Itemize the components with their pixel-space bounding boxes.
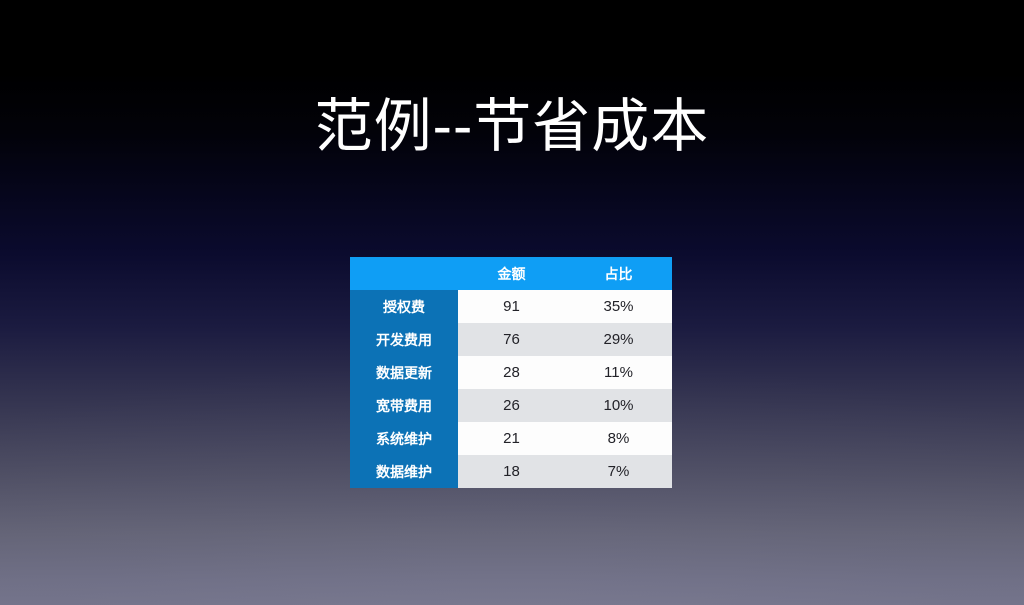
row-label: 数据更新 (350, 356, 458, 389)
row-label: 数据维护 (350, 455, 458, 488)
row-percent: 8% (565, 422, 672, 455)
table-row: 数据更新 28 11% (350, 356, 672, 389)
row-percent: 11% (565, 356, 672, 389)
row-amount: 76 (458, 323, 565, 356)
column-header-percent: 占比 (565, 257, 672, 290)
row-label: 宽带费用 (350, 389, 458, 422)
column-header-label (350, 257, 458, 290)
table-header: 金额 占比 (350, 257, 672, 290)
page-title: 范例--节省成本 (0, 92, 1024, 162)
column-header-amount: 金额 (458, 257, 565, 290)
row-label: 系统维护 (350, 422, 458, 455)
table-row: 授权费 91 35% (350, 290, 672, 323)
table-row: 开发费用 76 29% (350, 323, 672, 356)
row-percent: 10% (565, 389, 672, 422)
table-row: 宽带费用 26 10% (350, 389, 672, 422)
row-amount: 26 (458, 389, 565, 422)
table-row: 系统维护 21 8% (350, 422, 672, 455)
row-percent: 29% (565, 323, 672, 356)
presentation-slide: 范例--节省成本 金额 占比 授权费 91 35% (0, 0, 1024, 605)
cost-breakdown-table: 金额 占比 授权费 91 35% 开发费用 76 29% 数据更新 28 (350, 257, 672, 488)
row-percent: 35% (565, 290, 672, 323)
row-amount: 21 (458, 422, 565, 455)
table-body: 授权费 91 35% 开发费用 76 29% 数据更新 28 11% 宽带费用 … (350, 290, 672, 488)
cost-table: 金额 占比 授权费 91 35% 开发费用 76 29% 数据更新 28 (350, 257, 672, 488)
row-label: 授权费 (350, 290, 458, 323)
row-amount: 91 (458, 290, 565, 323)
row-amount: 28 (458, 356, 565, 389)
table-header-row: 金额 占比 (350, 257, 672, 290)
row-label: 开发费用 (350, 323, 458, 356)
table-row: 数据维护 18 7% (350, 455, 672, 488)
row-percent: 7% (565, 455, 672, 488)
row-amount: 18 (458, 455, 565, 488)
